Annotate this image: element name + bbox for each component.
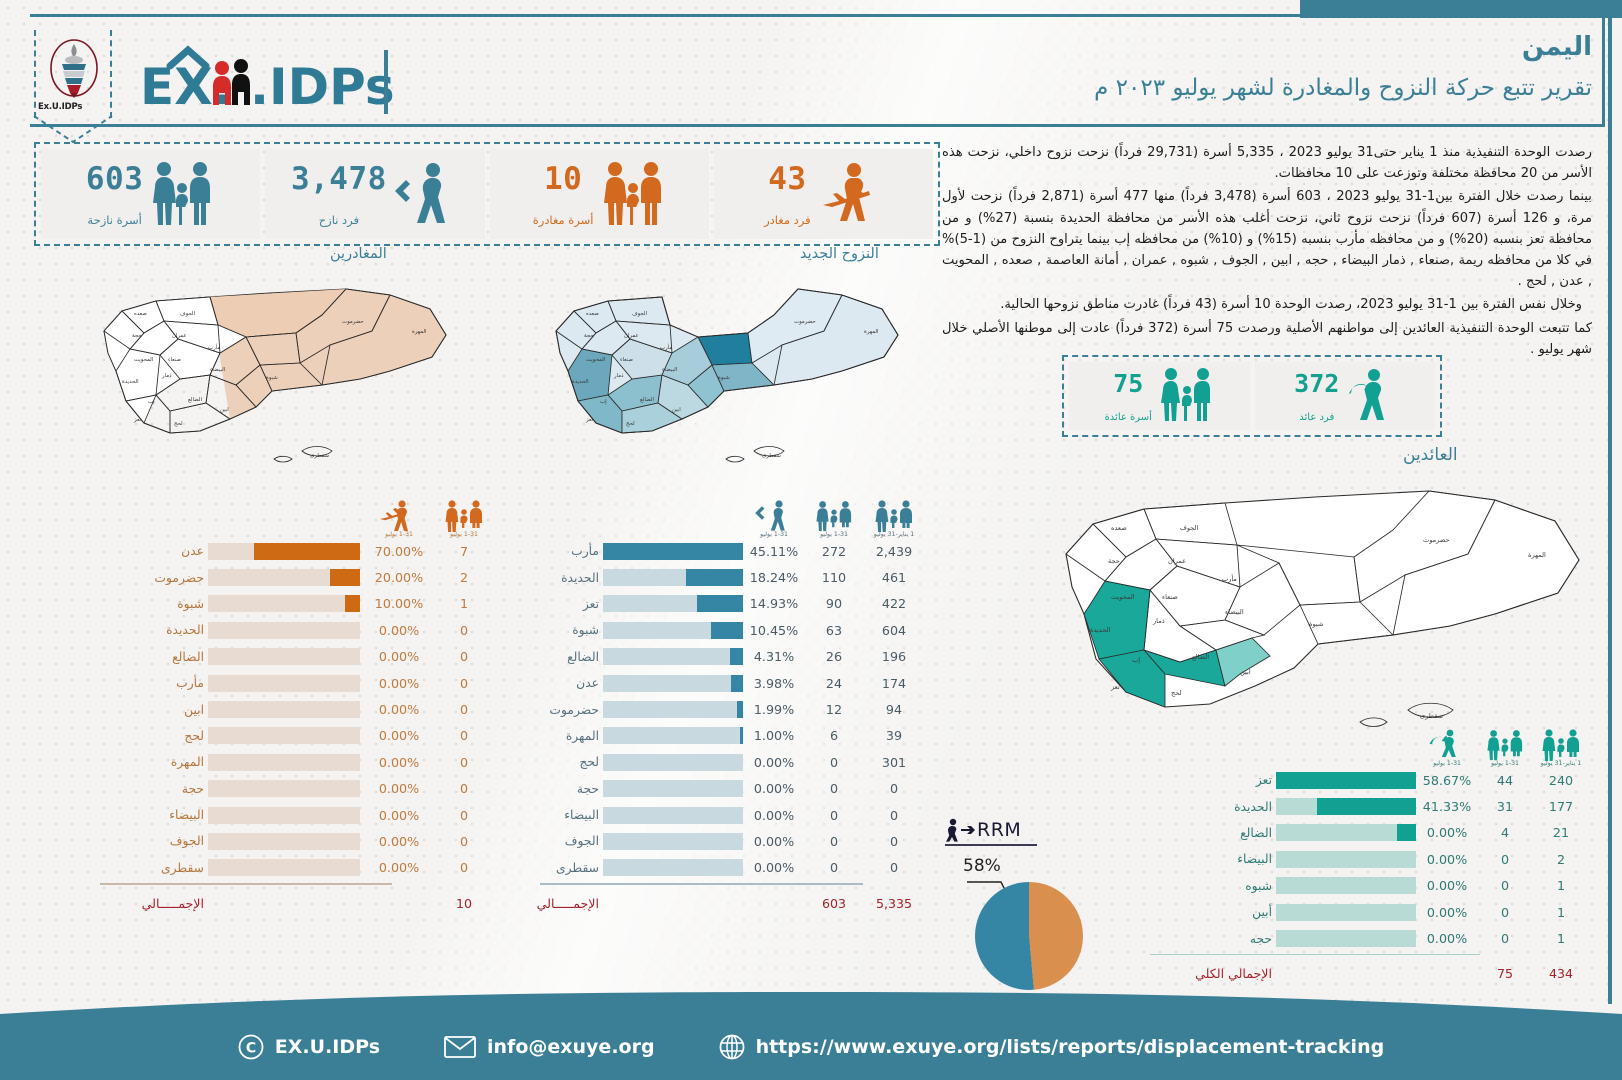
rrm-chart: RRM 58% <box>945 818 1037 846</box>
table-row: 000.00%الجوف <box>540 828 925 854</box>
paragraph-1: رصدت الوحدة التنفيذية منذ 1 يناير حتى31 … <box>942 142 1592 184</box>
person-running-icon <box>945 818 975 842</box>
bar-cell <box>208 754 360 771</box>
column-sublabel: 1 يناير-31 يوليو <box>1541 760 1581 767</box>
svg-text:حجة: حجة <box>132 333 142 339</box>
column-header-families: 1-31 يوليو <box>438 498 490 538</box>
table-body: 770.00%عدن220.00%حضرموت110.00%شبوة00.00%… <box>100 538 490 881</box>
svg-text:حضرموت: حضرموت <box>342 319 364 325</box>
table-row: 196264.31%الضالع <box>540 644 925 670</box>
cell-families: 0 <box>438 702 490 717</box>
family-icon <box>444 498 484 528</box>
cell-month: 0 <box>805 781 863 796</box>
cell-families: 0 <box>438 860 490 875</box>
bar-fill <box>737 701 743 718</box>
cell-percent: 0.00% <box>1416 905 1478 920</box>
svg-text:ذمار: ذمار <box>1152 617 1165 625</box>
person-leaving-plane-icon <box>379 498 419 528</box>
footer-org: C EX.U.IDPs <box>238 1034 380 1060</box>
cell-percent: 1.00% <box>743 728 805 743</box>
svg-text:شبوة: شبوة <box>266 375 278 381</box>
cell-ytd: 604 <box>863 623 925 638</box>
cell-month: 110 <box>805 570 863 585</box>
table-row: 770.00%عدن <box>100 538 490 564</box>
cell-percent: 0.00% <box>1416 852 1478 867</box>
bar-track <box>603 859 743 876</box>
cell-families: 1 <box>438 596 490 611</box>
svg-text:ابين: ابين <box>220 407 229 413</box>
cell-month: 0 <box>1478 878 1532 893</box>
bar-track <box>208 595 360 612</box>
bar-fill <box>603 543 743 560</box>
cell-month: 63 <box>805 623 863 638</box>
bar-track <box>208 622 360 639</box>
cell-ytd: 2 <box>1532 852 1590 867</box>
total-label: الإجمـــــالي <box>540 896 603 911</box>
person-leaving-plane-icon <box>817 156 883 232</box>
row-governorate-label: حجه <box>1164 932 1276 946</box>
cell-month: 24 <box>805 676 863 691</box>
bar-cell <box>208 701 360 718</box>
svg-text:عمران: عمران <box>1168 557 1186 565</box>
table-departures: 1-31 يوليو 1-31 يوليو 770.00%عدن220.00%ح… <box>100 486 490 918</box>
cell-percent: 0.00% <box>360 702 438 717</box>
kpi-value: 75 <box>1105 369 1152 398</box>
cell-percent: 1.99% <box>743 702 805 717</box>
bar-cell <box>208 833 360 850</box>
svg-text:البيضاء: البيضاء <box>662 367 677 373</box>
column-header-percent: 1-31 يوليو <box>1416 727 1478 767</box>
total-label: الإجمـــــالي <box>108 896 208 911</box>
column-sublabel: 1-31 يوليو <box>450 531 478 538</box>
bar-cell <box>603 807 743 824</box>
family-icon <box>1160 367 1214 425</box>
column-sublabel: 1-31 يوليو <box>1433 760 1461 767</box>
cell-families: 0 <box>438 728 490 743</box>
footer-curve <box>0 992 1622 1014</box>
bar-cell <box>1276 798 1416 815</box>
table-row: 00.00%حجة <box>100 776 490 802</box>
person-arrow-left-icon <box>393 156 459 232</box>
bar-cell <box>208 859 360 876</box>
footer-email-label: info@exuye.org <box>487 1036 655 1058</box>
column-header-ytd: 1 يناير-31 يوليو <box>863 498 925 538</box>
bar-fill <box>1317 798 1416 815</box>
svg-text:الضالع: الضالع <box>188 397 202 403</box>
person-return-icon <box>1430 727 1464 757</box>
page-header: Ex.U.IDPs EX. .IDPs اليمن تقرير تتبع حرك… <box>0 14 1622 126</box>
kpi-label: فرد عائد <box>1294 412 1339 423</box>
svg-text:الضالع: الضالع <box>1192 653 1209 661</box>
bar-fill <box>1276 772 1416 789</box>
cell-month: 4 <box>1478 825 1532 840</box>
svg-text:عمران: عمران <box>624 333 639 339</box>
total-ytd: 434 <box>1532 966 1590 981</box>
table-row: 2404458.67%تعز <box>1150 767 1590 793</box>
cell-families: 7 <box>438 544 490 559</box>
bar-fill <box>730 648 743 665</box>
svg-text:الحديدة: الحديدة <box>1090 626 1110 634</box>
bar-track <box>603 701 743 718</box>
table-total-rule <box>540 883 863 885</box>
kpi-value: 10 <box>533 161 594 197</box>
cell-percent: 10.45% <box>743 623 805 638</box>
bar-track <box>603 833 743 850</box>
total-value: 10 <box>438 896 490 911</box>
cell-month: 90 <box>805 596 863 611</box>
section-title-returnees: العائدين <box>1403 445 1458 465</box>
cell-ytd: 0 <box>863 808 925 823</box>
table-body: 2,43927245.11%مأرب46111018.24%الحديدة422… <box>540 538 925 881</box>
bar-cell <box>603 754 743 771</box>
cell-families: 0 <box>438 781 490 796</box>
person-arrow-left-icon <box>756 498 792 528</box>
bar-cell <box>603 543 743 560</box>
svg-text:مأرب: مأرب <box>660 343 672 351</box>
table-row: 00.00%البيضاء <box>100 802 490 828</box>
row-governorate-label: البيضاء <box>1164 852 1276 866</box>
cell-percent: 0.00% <box>360 728 438 743</box>
svg-text:المهرة: المهرة <box>1528 551 1546 559</box>
cell-month: 26 <box>805 649 863 664</box>
footer-org-label: EX.U.IDPs <box>275 1036 380 1058</box>
bar-fill <box>731 675 743 692</box>
svg-text:حضرموت: حضرموت <box>794 319 816 325</box>
kpi-card-returned-individuals: 372 فرد عائد <box>1255 362 1436 430</box>
map-returnees: صعدهالجوف حضرموتالمهرة حجةعمران مأربالمح… <box>1000 470 1600 735</box>
table-row: 6046310.45%شبوة <box>540 617 925 643</box>
row-governorate-label: حجة <box>108 782 208 796</box>
org-logo-badge: Ex.U.IDPs <box>34 30 112 130</box>
bar-cell <box>208 648 360 665</box>
row-governorate-label: الضالع <box>540 650 603 664</box>
row-governorate-label: الجوف <box>108 834 208 848</box>
svg-text:تعز: تعز <box>585 417 594 423</box>
table-row: 174243.98%عدن <box>540 670 925 696</box>
table-row: 100.00%أبين <box>1150 899 1590 925</box>
row-governorate-label: الضالع <box>108 650 208 664</box>
kpi-card-departed-families: 10 أسرة مغادرة <box>490 149 709 239</box>
table-row: 100.00%شبوه <box>1150 873 1590 899</box>
page-title: اليمن <box>1094 32 1592 63</box>
svg-text:حجة: حجة <box>1108 557 1120 565</box>
svg-text:المحويت: المحويت <box>1111 593 1135 601</box>
rrm-heading: RRM <box>945 818 1037 842</box>
table-row: 000.00%البيضاء <box>540 802 925 828</box>
table-row: 000.00%حجة <box>540 776 925 802</box>
cell-ytd: 2,439 <box>863 544 925 559</box>
table-total-rule <box>100 883 392 885</box>
bar-track <box>1276 930 1416 947</box>
table-total-row: 5,335 603 الإجمـــــالي <box>540 888 925 918</box>
table-row: 00.00%الضالع <box>100 644 490 670</box>
bar-track <box>603 648 743 665</box>
cell-percent: 0.00% <box>743 860 805 875</box>
table-row: 3961.00%المهرة <box>540 723 925 749</box>
cell-ytd: 0 <box>863 781 925 796</box>
table-returnees: 1 يناير-31 يوليو 1-31 يوليو 1-31 يوليو <box>1150 715 1590 989</box>
kpi-card-displaced-families: 603 أسرة نازحة <box>41 149 260 239</box>
cell-month: 272 <box>805 544 863 559</box>
bar-fill <box>711 622 743 639</box>
bar-cell <box>208 622 360 639</box>
row-governorate-label: البيضاء <box>540 808 603 822</box>
cell-ytd: 174 <box>863 676 925 691</box>
bar-cell <box>603 569 743 586</box>
cell-ytd: 94 <box>863 702 925 717</box>
bar-track <box>208 648 360 665</box>
paragraph-3: وخلال نفس الفترة بين 1-31 يوليو 2023، رص… <box>942 294 1592 315</box>
cell-percent: 0.00% <box>743 755 805 770</box>
cell-month: 0 <box>1478 905 1532 920</box>
svg-text:صعده: صعده <box>134 311 147 317</box>
svg-text:البيضاء: البيضاء <box>210 367 225 373</box>
table-row: 46111018.24%الحديدة <box>540 564 925 590</box>
bar-cell <box>1276 904 1416 921</box>
kpi-label: أسرة مغادرة <box>533 213 594 227</box>
section-title-new-displacement: النزوح الجديد <box>800 246 879 262</box>
svg-text:ذمار: ذمار <box>161 373 172 379</box>
cell-families: 0 <box>438 623 490 638</box>
paragraph-2: بينما رصدت خلال الفترة بين1-31 يوليو 202… <box>942 186 1592 292</box>
row-governorate-label: أبين <box>1164 905 1276 919</box>
family-icon <box>1486 727 1524 757</box>
table-total-rule <box>1150 954 1480 956</box>
rrm-underline <box>945 844 1037 846</box>
bar-fill <box>740 727 743 744</box>
rrm-pie-slice <box>975 882 1083 990</box>
svg-text:الجوف: الجوف <box>1180 524 1199 532</box>
cell-ytd: 1 <box>1532 878 1590 893</box>
row-governorate-label: سقطرى <box>540 861 603 875</box>
cell-percent: 0.00% <box>360 834 438 849</box>
bar-track <box>1276 851 1416 868</box>
bar-track <box>603 675 743 692</box>
cell-month: 0 <box>1478 852 1532 867</box>
cell-percent: 0.00% <box>743 808 805 823</box>
row-governorate-label: حضرموت <box>108 571 208 585</box>
column-sublabel: 1-31 يوليو <box>385 531 413 538</box>
bar-cell <box>208 543 360 560</box>
kpi-value: 43 <box>764 161 811 197</box>
cell-month: 31 <box>1478 799 1532 814</box>
cell-families: 0 <box>438 755 490 770</box>
bar-track <box>208 754 360 771</box>
kpi-label: فرد مغادر <box>764 213 811 227</box>
header-rule-bottom <box>30 124 1605 127</box>
bar-track <box>1276 824 1416 841</box>
table-row: 000.00%سقطرى <box>540 855 925 881</box>
envelope-icon <box>444 1036 476 1058</box>
family-icon <box>149 156 215 232</box>
bar-cell <box>1276 824 1416 841</box>
cell-ytd: 177 <box>1532 799 1590 814</box>
cell-families: 2 <box>438 570 490 585</box>
column-header-percent: 1-31 يوليو <box>743 498 805 538</box>
svg-text:ابين: ابين <box>1240 668 1251 676</box>
rrm-label: RRM <box>977 819 1021 841</box>
row-governorate-label: سقطرى <box>108 861 208 875</box>
bar-track <box>1276 877 1416 894</box>
kpi-card-returned-families: 75 أسرة عائدة <box>1069 362 1250 430</box>
total-month: 75 <box>1478 966 1532 981</box>
bar-cell <box>1276 930 1416 947</box>
cell-percent: 0.00% <box>360 808 438 823</box>
row-governorate-label: حضرموت <box>540 703 603 717</box>
svg-text:صنعاء: صنعاء <box>620 357 633 363</box>
header-rule-top <box>30 14 1605 17</box>
bar-fill <box>686 569 743 586</box>
bar-track <box>603 807 743 824</box>
cell-ytd: 21 <box>1532 825 1590 840</box>
svg-text:لحج: لحج <box>174 421 183 427</box>
row-governorate-label: المهرة <box>108 755 208 769</box>
bar-fill <box>1397 824 1416 841</box>
cell-month: 0 <box>805 834 863 849</box>
bar-fill <box>330 569 360 586</box>
cell-percent: 70.00% <box>360 544 438 559</box>
cell-ytd: 461 <box>863 570 925 585</box>
table-row: 00.00%الجوف <box>100 828 490 854</box>
cell-percent: 3.98% <box>743 676 805 691</box>
cell-percent: 14.93% <box>743 596 805 611</box>
table-row: 200.00%البيضاء <box>1150 846 1590 872</box>
table-header-row: 1 يناير-31 يوليو 1-31 يوليو 1-31 يوليو <box>540 486 925 538</box>
column-sublabel: 1-31 يوليو <box>1491 760 1519 767</box>
svg-text:صعده: صعده <box>1111 524 1127 532</box>
cell-families: 0 <box>438 676 490 691</box>
row-governorate-label: الضالع <box>1164 826 1276 840</box>
kpi-label: أسرة نازحة <box>86 213 144 227</box>
bar-track <box>208 833 360 850</box>
table-total-row: 434 75 الإجمالي الكلي <box>1150 959 1590 989</box>
svg-text:حضرموت: حضرموت <box>1423 536 1450 544</box>
row-governorate-label: ابين <box>108 703 208 717</box>
cell-ytd: 1 <box>1532 905 1590 920</box>
cell-families: 0 <box>438 834 490 849</box>
footer-email[interactable]: info@exuye.org <box>444 1036 655 1058</box>
cell-ytd: 422 <box>863 596 925 611</box>
table-total-row: 10 الإجمـــــالي <box>100 888 490 918</box>
row-governorate-label: تعز <box>1164 773 1276 787</box>
column-header-month: 1-31 يوليو <box>805 498 863 538</box>
cell-ytd: 0 <box>863 860 925 875</box>
svg-text:ذمار: ذمار <box>613 373 624 379</box>
report-body-text: رصدت الوحدة التنفيذية منذ 1 يناير حتى31 … <box>942 142 1592 362</box>
table-row: 2140.00%الضالع <box>1150 820 1590 846</box>
bar-cell <box>603 727 743 744</box>
kpi-strip: 43 فرد مغادر 10 أسرة مغادرة <box>34 142 940 246</box>
logo-dashed-tip <box>34 116 112 144</box>
cell-percent: 0.00% <box>1416 931 1478 946</box>
row-governorate-label: مأرب <box>540 544 603 558</box>
brand-wordmark: EX. .IDPs <box>140 42 380 116</box>
row-governorate-label: المهرة <box>540 729 603 743</box>
row-governorate-label: شبوة <box>540 623 603 637</box>
row-governorate-label: الحديدة <box>108 623 208 637</box>
kpi-value: 372 <box>1294 369 1339 398</box>
cell-percent: 0.00% <box>743 781 805 796</box>
cell-percent: 41.33% <box>1416 799 1478 814</box>
bar-track <box>208 727 360 744</box>
svg-text:ابين: ابين <box>672 407 681 413</box>
svg-text:البيضاء: البيضاء <box>1225 608 1244 616</box>
cell-percent: 10.00% <box>360 596 438 611</box>
rrm-percent-annotation: 58% <box>963 856 1001 876</box>
bar-cell <box>208 569 360 586</box>
bar-track <box>208 859 360 876</box>
svg-text:تعز: تعز <box>1110 683 1120 691</box>
table-row: 4229014.93%تعز <box>540 591 925 617</box>
table-row: 220.00%حضرموت <box>100 564 490 590</box>
column-sublabel: 1-31 يوليو <box>820 531 848 538</box>
cell-ytd: 0 <box>863 834 925 849</box>
torch-emblem-icon <box>46 38 102 100</box>
family-icon <box>874 498 914 528</box>
table-row: 30100.00%لحج <box>540 749 925 775</box>
svg-text:الضالع: الضالع <box>640 397 654 403</box>
svg-text:شبوة: شبوة <box>718 375 730 381</box>
bar-cell <box>1276 851 1416 868</box>
family-icon <box>815 498 853 528</box>
cell-percent: 18.24% <box>743 570 805 585</box>
cell-ytd: 196 <box>863 649 925 664</box>
svg-text:لحج: لحج <box>626 421 635 427</box>
svg-text:حجة: حجة <box>584 333 594 339</box>
cell-percent: 58.67% <box>1416 773 1478 788</box>
cell-month: 0 <box>805 808 863 823</box>
svg-text:إب: إب <box>600 399 607 405</box>
bar-track <box>603 727 743 744</box>
svg-text:تعز: تعز <box>133 417 142 423</box>
kpi-label: أسرة عائدة <box>1105 412 1152 423</box>
map-departures: صعدهالجوفحضرموت المهرةحجةعمران مأربالمحو… <box>60 275 460 475</box>
bar-cell <box>1276 877 1416 894</box>
table-row: 00.00%المهرة <box>100 749 490 775</box>
footer-url[interactable]: https://www.exuye.org/lists/reports/disp… <box>719 1034 1385 1060</box>
svg-text:المحويت: المحويت <box>586 357 605 363</box>
kpi-value: 603 <box>86 161 144 197</box>
table-row: 00.00%لحج <box>100 723 490 749</box>
copyright-icon: C <box>238 1034 264 1060</box>
row-governorate-label: شبوة <box>108 597 208 611</box>
kpi-card-departed-individuals: 43 فرد مغادر <box>714 149 933 239</box>
bar-cell <box>603 780 743 797</box>
kpi-label: فرد نازح <box>291 213 387 227</box>
table-header-row: 1-31 يوليو 1-31 يوليو <box>100 486 490 538</box>
cell-month: 44 <box>1478 773 1532 788</box>
footer-url-label: https://www.exuye.org/lists/reports/disp… <box>756 1036 1385 1058</box>
table-row: 94121.99%حضرموت <box>540 696 925 722</box>
row-governorate-label: عدن <box>540 676 603 690</box>
table-row: 00.00%مأرب <box>100 670 490 696</box>
svg-text:إب: إب <box>1132 656 1140 664</box>
bar-fill <box>254 543 360 560</box>
cell-month: 12 <box>805 702 863 717</box>
svg-text:لحج: لحج <box>1171 689 1182 697</box>
header-right-edge <box>1602 14 1605 127</box>
kpi-value: 3,478 <box>291 161 387 197</box>
row-governorate-label: الجوف <box>540 834 603 848</box>
page-footer: C EX.U.IDPs info@exuye.org https://www.e… <box>0 1014 1622 1080</box>
row-governorate-label: البيضاء <box>108 808 208 822</box>
table-new-displacement: 1 يناير-31 يوليو 1-31 يوليو 1-31 يوليو <box>540 486 925 918</box>
cell-ytd: 1 <box>1532 931 1590 946</box>
cell-percent: 45.11% <box>743 544 805 559</box>
logo-badge-caption: Ex.U.IDPs <box>38 102 82 112</box>
person-return-icon <box>1347 367 1395 425</box>
bar-track <box>208 780 360 797</box>
